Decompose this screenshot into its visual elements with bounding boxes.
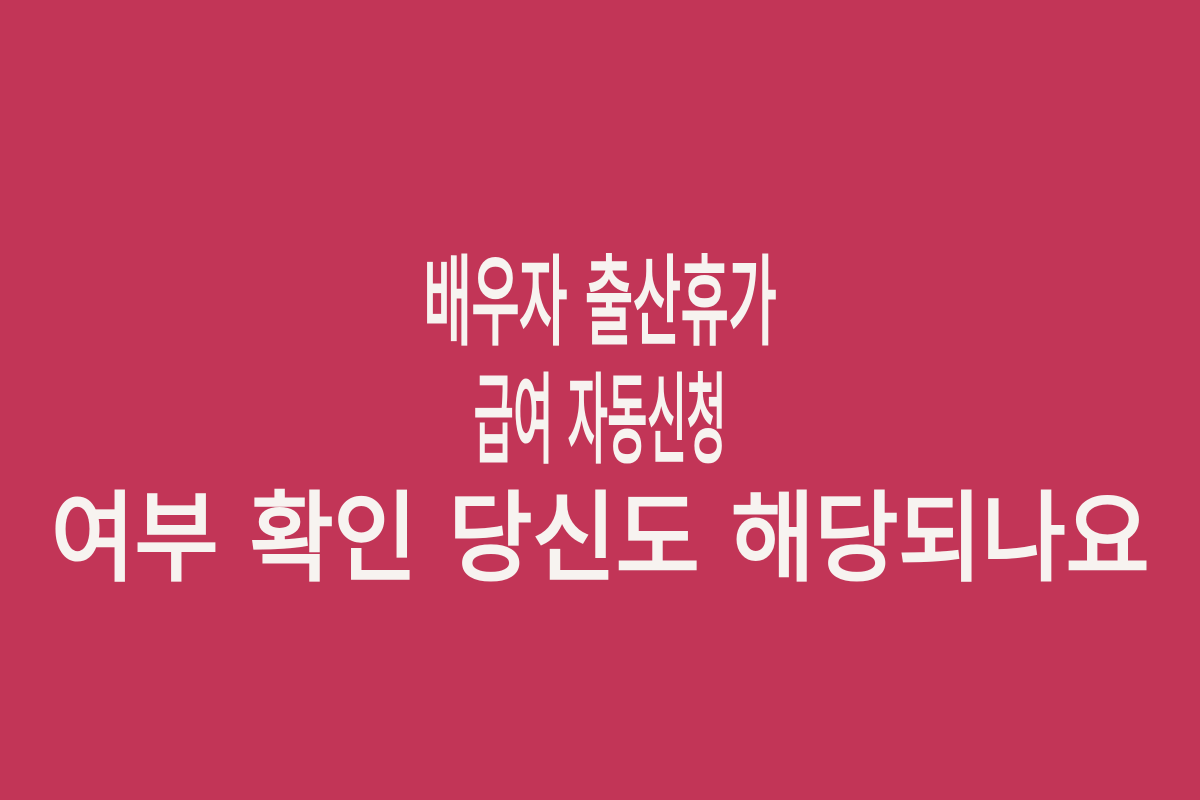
thumbnail-card: 배우자 출산휴가 급여 자동신청 여부 확인 당신도 해당되나요 [0,0,1200,800]
headline-line-3: 여부 확인 당신도 해당되나요 [40,480,1160,598]
headline-line-2: 급여 자동신청 [335,362,865,480]
headline-line-1: 배우자 출산휴가 [280,244,920,362]
headline-block: 배우자 출산휴가 급여 자동신청 여부 확인 당신도 해당되나요 [0,0,1200,598]
